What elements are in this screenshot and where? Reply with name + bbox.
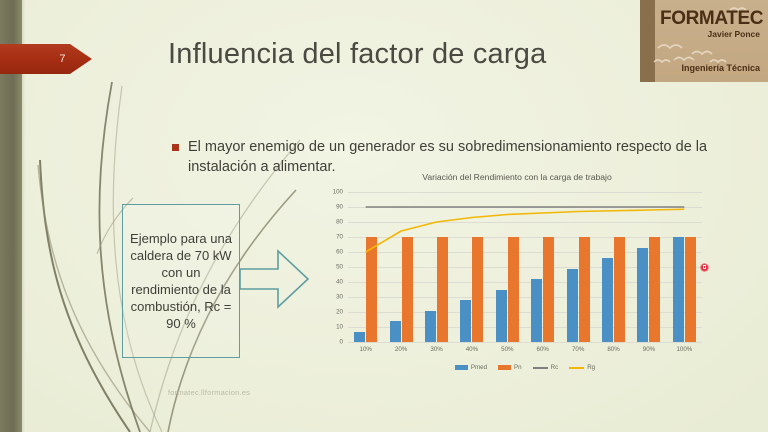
callout-box: Ejemplo para una caldera de 70 kW con un… xyxy=(122,204,240,358)
legend-label: Rg xyxy=(587,364,595,371)
chart-x-tick: 10% xyxy=(348,346,383,353)
bullet-marker-icon xyxy=(172,144,179,151)
page-title: Influencia del factor de carga xyxy=(168,38,638,71)
legend-item-pmed[interactable]: Pmed xyxy=(455,364,487,371)
chart-line-layer xyxy=(348,192,702,342)
slide-canvas: 7 Influencia del factor de carga FORMATE… xyxy=(0,0,768,432)
chart-x-tick: 90% xyxy=(631,346,666,353)
chart-x-tick: 20% xyxy=(383,346,418,353)
chart-x-tick: 60% xyxy=(525,346,560,353)
chart-y-tick: 40 xyxy=(336,279,343,286)
chart-x-tick: 30% xyxy=(419,346,454,353)
legend-label: Rc xyxy=(551,364,559,371)
slide-number: 7 xyxy=(59,53,66,65)
legend-label: Pn xyxy=(514,364,522,371)
legend-item-rg[interactable]: Rg xyxy=(569,364,595,371)
legend-swatch-icon xyxy=(533,367,548,369)
right-arrow-icon xyxy=(238,243,310,315)
legend-item-pn[interactable]: Pn xyxy=(498,364,522,371)
chart-y-tick: 0 xyxy=(340,339,343,346)
legend-swatch-icon xyxy=(455,365,468,370)
chart-y-tick: 60 xyxy=(336,249,343,256)
red-dot-marker xyxy=(700,263,709,272)
chart-gridline xyxy=(348,342,702,343)
chart-y-tick: 20 xyxy=(336,309,343,316)
footer-text: formatec.llformacion.es xyxy=(168,388,250,397)
callout-text: Ejemplo para una caldera de 70 kW con un… xyxy=(123,230,239,332)
bullet-item: El mayor enemigo de un generador es su s… xyxy=(172,137,728,177)
legend-item-rc[interactable]: Rc xyxy=(533,364,559,371)
brand-logo: FORMATEC Javier Ponce Ingeniería Técnica xyxy=(640,0,768,82)
legend-swatch-icon xyxy=(498,365,511,370)
chart-x-axis: 10%20%30%40%50%60%70%80%90%100% xyxy=(348,346,702,353)
chart-x-tick: 40% xyxy=(454,346,489,353)
chart-y-tick: 70 xyxy=(336,234,343,241)
chart-y-tick: 80 xyxy=(336,219,343,226)
chart-plot-area: 0102030405060708090100 xyxy=(348,192,702,342)
chart-container: Variación del Rendimiento con la carga d… xyxy=(310,172,724,390)
chart-line-rg xyxy=(366,209,685,252)
chart-y-tick: 10 xyxy=(336,324,343,331)
logo-person: Javier Ponce xyxy=(708,29,760,39)
slide-number-banner: 7 xyxy=(0,44,92,74)
chart-y-tick: 30 xyxy=(336,294,343,301)
bullet-text: El mayor enemigo de un generador es su s… xyxy=(188,137,728,177)
chart-y-tick: 100 xyxy=(333,189,343,196)
chart-x-tick: 70% xyxy=(560,346,595,353)
chart-title: Variación del Rendimiento con la carga d… xyxy=(310,172,724,182)
chart-x-tick: 80% xyxy=(596,346,631,353)
legend-label: Pmed xyxy=(471,364,487,371)
chart-legend: PmedPnRcRg xyxy=(348,364,702,371)
chart-y-tick: 90 xyxy=(336,204,343,211)
logo-tagline: Ingeniería Técnica xyxy=(681,63,760,73)
chart-y-tick: 50 xyxy=(336,264,343,271)
chart-x-tick: 50% xyxy=(490,346,525,353)
chart-x-tick: 100% xyxy=(667,346,702,353)
legend-swatch-icon xyxy=(569,367,584,369)
logo-name: FORMATEC xyxy=(660,8,763,30)
